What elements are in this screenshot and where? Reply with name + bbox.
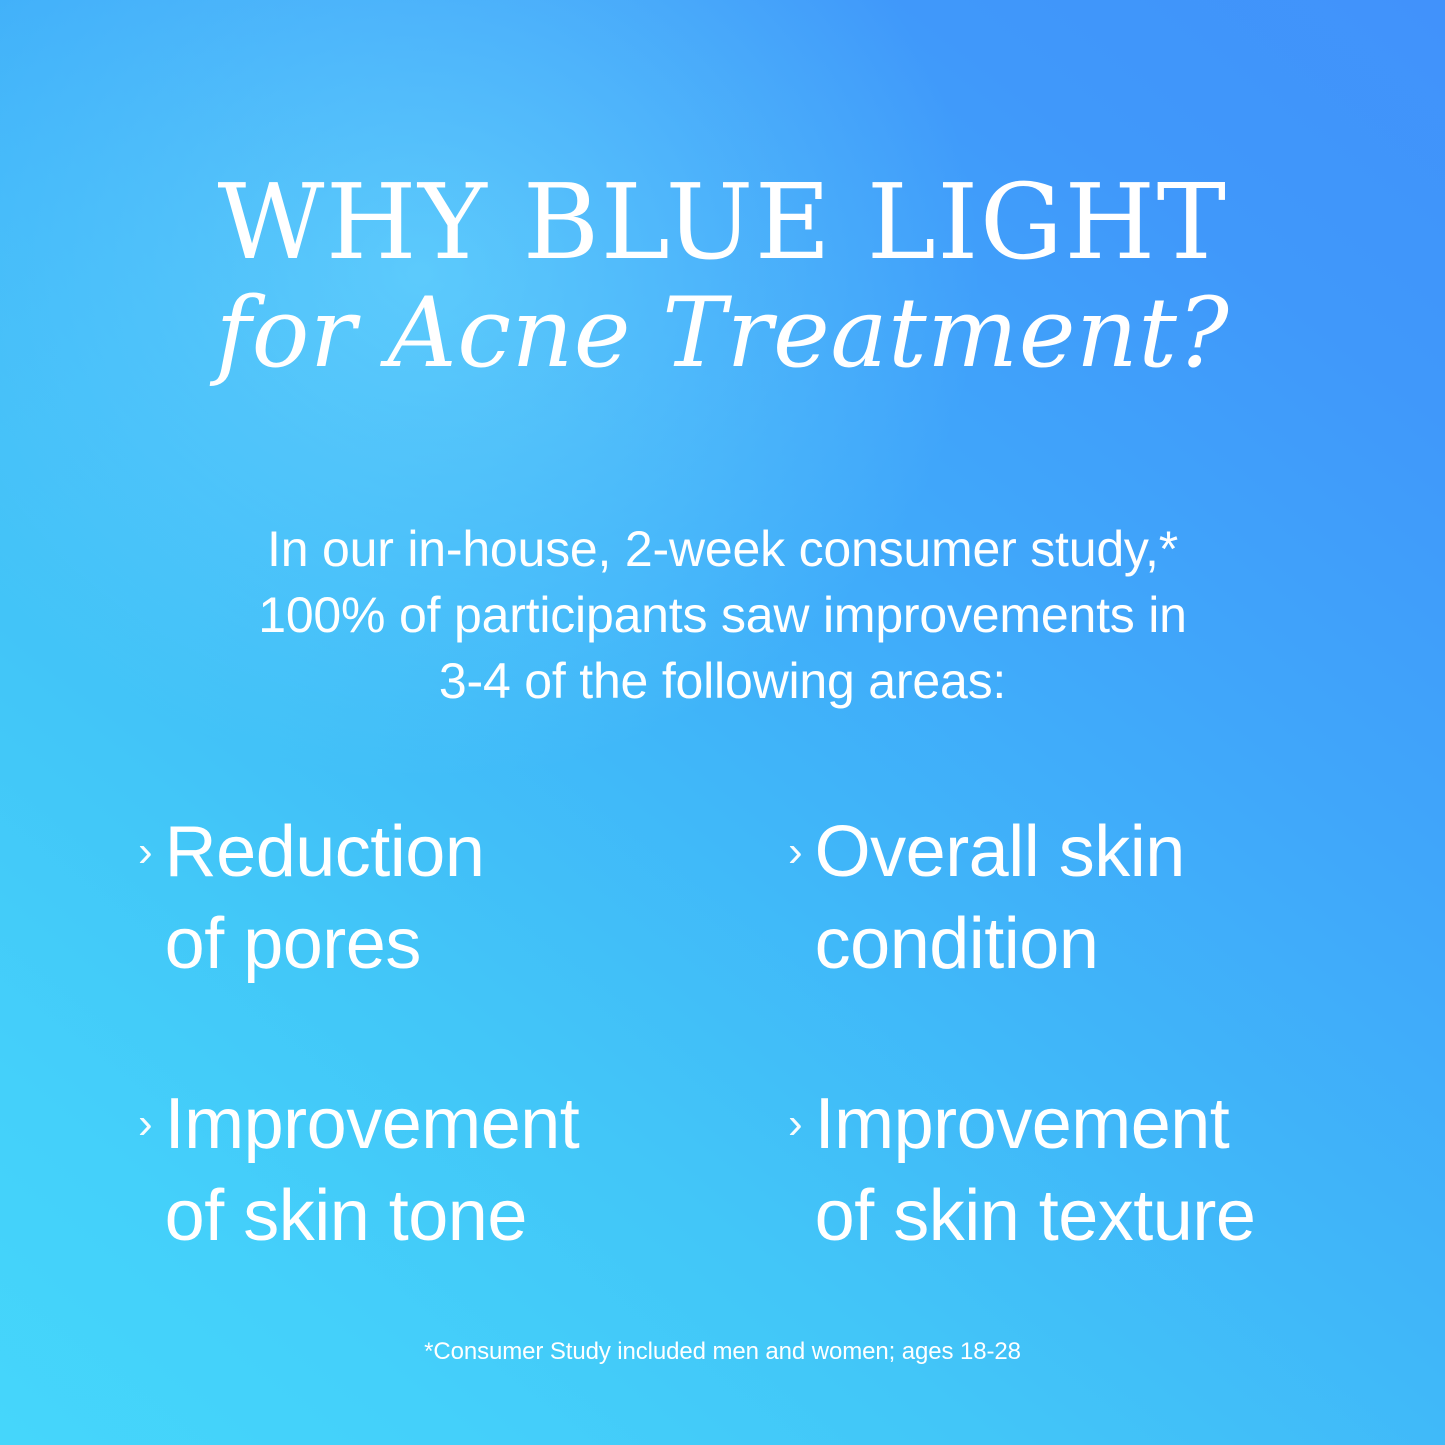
promo-poster: WHY BLUE LIGHT for Acne Treatment? In ou… [0, 0, 1445, 1445]
benefit-label-line-2: of skin tone [165, 1170, 788, 1262]
benefit-item-overall-skin-condition: › Overall skin condition [788, 806, 1338, 990]
poster-content: WHY BLUE LIGHT for Acne Treatment? In ou… [0, 0, 1445, 1445]
benefit-label: Overall skin condition [815, 806, 1338, 990]
headline-primary: WHY BLUE LIGHT [0, 169, 1445, 275]
study-summary-line-3: 3-4 of the following areas: [163, 648, 1283, 714]
benefit-label-line-2: condition [815, 898, 1338, 990]
benefit-label: Reduction of pores [165, 806, 788, 990]
benefit-label-line-1: Overall skin [815, 806, 1338, 898]
chevron-right-icon: › [788, 1078, 803, 1170]
study-summary-text: In our in-house, 2-week consumer study,*… [163, 516, 1283, 714]
benefit-label-line-1: Reduction [165, 806, 788, 898]
benefit-item-improvement-of-skin-tone: › Improvement of skin tone [138, 1078, 788, 1262]
benefit-label-line-1: Improvement [815, 1078, 1338, 1170]
benefits-list: › Reduction of pores › Overall skin cond… [138, 806, 1338, 1262]
study-summary-line-1: In our in-house, 2-week consumer study,* [163, 516, 1283, 582]
chevron-right-icon: › [138, 806, 153, 898]
benefit-item-reduction-of-pores: › Reduction of pores [138, 806, 788, 990]
benefit-label-line-2: of skin texture [815, 1170, 1338, 1262]
page-title: WHY BLUE LIGHT for Acne Treatment? [0, 169, 1445, 387]
headline-secondary: for Acne Treatment? [0, 280, 1445, 388]
chevron-right-icon: › [788, 806, 803, 898]
chevron-right-icon: › [138, 1078, 153, 1170]
benefit-label-line-1: Improvement [165, 1078, 788, 1170]
benefit-item-improvement-of-skin-texture: › Improvement of skin texture [788, 1078, 1338, 1262]
study-summary-line-2: 100% of participants saw improvements in [163, 582, 1283, 648]
benefit-label: Improvement of skin tone [165, 1078, 788, 1262]
benefit-label: Improvement of skin texture [815, 1078, 1338, 1262]
footnote-disclaimer: *Consumer Study included men and women; … [0, 1336, 1445, 1368]
benefit-label-line-2: of pores [165, 898, 788, 990]
